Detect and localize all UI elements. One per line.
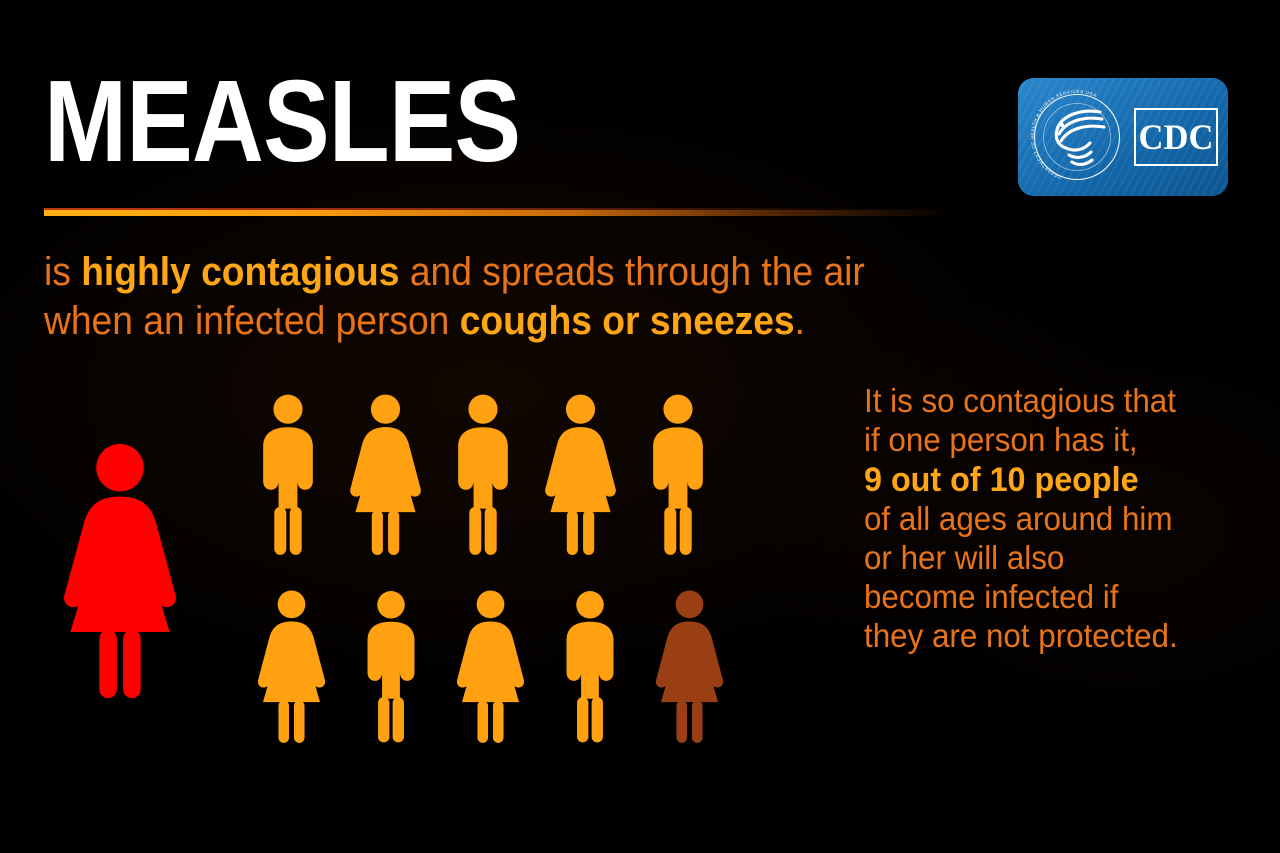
contagion-explanation: It is so contagious that if one person h… xyxy=(864,382,1206,656)
explanation-line-5: or her will also xyxy=(864,539,1206,578)
subheading-text-2a: when an infected person xyxy=(44,299,460,343)
pictogram-figure-female-infected xyxy=(254,588,329,743)
cdc-wordmark: CDC xyxy=(1138,110,1215,164)
pictogram-figure-male-infected xyxy=(447,392,519,555)
cdc-logo[interactable]: DEPARTMENT OF HEALTH & HUMAN SERVICES US… xyxy=(1018,78,1228,196)
pictogram-figure-male-infected xyxy=(357,588,425,743)
subheading-line-2: when an infected person coughs or sneeze… xyxy=(44,297,862,346)
subheading-text-2c: . xyxy=(795,299,805,343)
divider-bar xyxy=(44,210,950,216)
cdc-wordmark-box: CDC xyxy=(1134,108,1218,166)
pictogram-row-2 xyxy=(254,588,727,743)
page-title: MEASLES xyxy=(44,68,520,175)
hhs-eagle-seal-icon: DEPARTMENT OF HEALTH & HUMAN SERVICES US… xyxy=(1028,87,1126,187)
explanation-line-2: if one person has it, xyxy=(864,421,1206,460)
index-case-figure-female-red xyxy=(58,390,182,750)
subheading-line-1: is highly contagious and spreads through… xyxy=(44,248,862,297)
explanation-line-4: of all ages around him xyxy=(864,500,1206,539)
explanation-ratio: 9 out of 10 people xyxy=(864,460,1206,500)
pictogram-figure-male-infected xyxy=(556,588,624,743)
explanation-line-6: become infected if xyxy=(864,578,1206,617)
subheading-emphasis-2: coughs or sneezes xyxy=(460,299,795,343)
subheading-text-1a: is xyxy=(44,250,81,294)
subheading-text-1c: and spreads through the air xyxy=(399,250,864,294)
pictogram-figure-male-infected xyxy=(252,392,324,555)
pictogram-figure-female-infected xyxy=(453,588,528,743)
pictogram-figure-male-infected xyxy=(642,392,714,555)
divider xyxy=(44,208,950,216)
pictogram-figure-female-infected xyxy=(541,392,620,555)
svg-text:DEPARTMENT OF HEALTH & HUMAN S: DEPARTMENT OF HEALTH & HUMAN SERVICES US… xyxy=(1030,89,1098,180)
subheading-emphasis-1: highly contagious xyxy=(81,250,399,294)
explanation-line-7: they are not protected. xyxy=(864,617,1206,656)
pictogram-figure-female-protected xyxy=(652,588,727,743)
explanation-line-1: It is so contagious that xyxy=(864,382,1206,421)
measles-infographic-poster: MEASLES is highly contagious and spreads… xyxy=(0,0,1280,853)
pictogram-row-1 xyxy=(252,392,714,555)
subheading: is highly contagious and spreads through… xyxy=(44,248,862,346)
pictogram-figure-female-infected xyxy=(346,392,425,555)
